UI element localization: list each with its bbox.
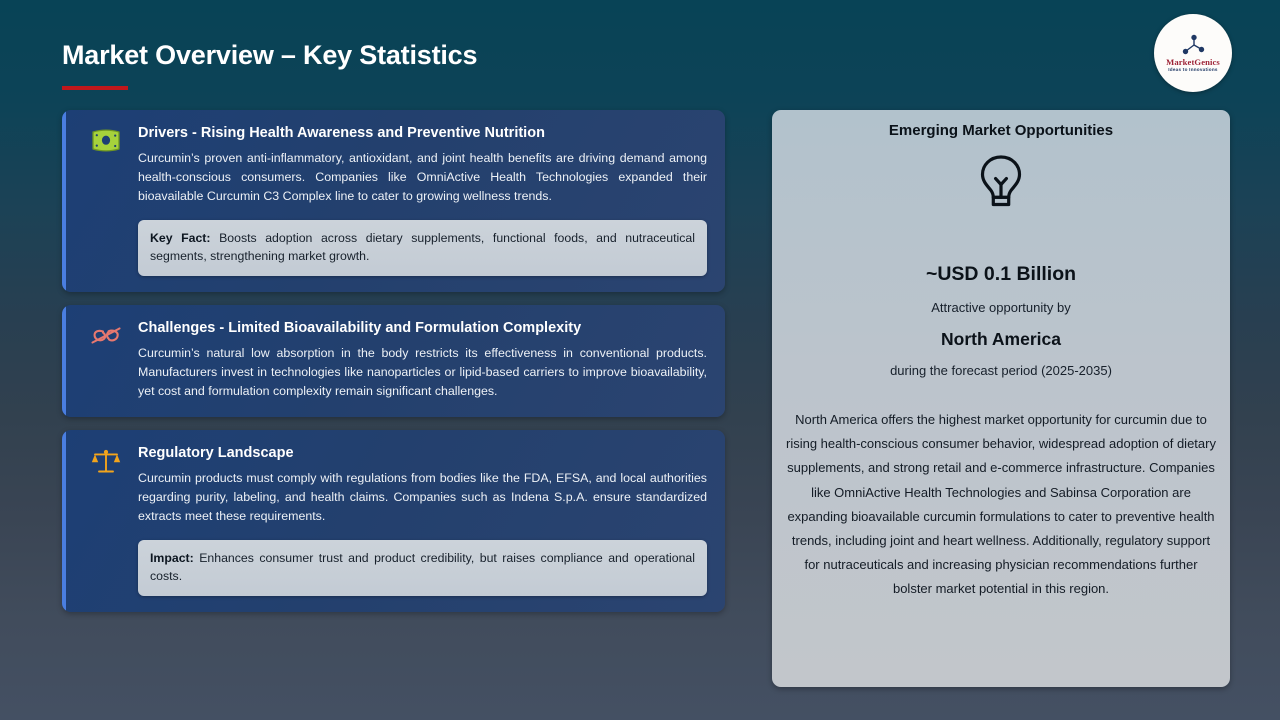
card-drivers[interactable]: Drivers - Rising Health Awareness and Pr… bbox=[62, 110, 725, 292]
page-title: Market Overview – Key Statistics bbox=[62, 40, 477, 71]
banknote-icon bbox=[91, 128, 121, 154]
brand-logo: MarketGenics Ideas to Innovations bbox=[1154, 14, 1232, 92]
broken-link-icon bbox=[90, 323, 122, 349]
card-heading: Drivers - Rising Health Awareness and Pr… bbox=[138, 124, 707, 142]
callout-label: Key Fact: bbox=[150, 231, 211, 245]
insight-card-list: Drivers - Rising Health Awareness and Pr… bbox=[62, 110, 725, 625]
panel-subtitle: Attractive opportunity by bbox=[772, 300, 1230, 315]
callout-text: Boosts adoption across dietary supplemen… bbox=[150, 231, 695, 263]
panel-region: North America bbox=[772, 329, 1230, 350]
callout-text: Enhances consumer trust and product cred… bbox=[150, 551, 695, 583]
card-heading: Challenges - Limited Bioavailability and… bbox=[138, 319, 707, 337]
network-nodes-icon bbox=[1180, 33, 1206, 57]
card-text: Curcumin’s proven anti-inflammatory, ant… bbox=[138, 149, 707, 206]
card-body: Challenges - Limited Bioavailability and… bbox=[128, 319, 707, 401]
card-body: Drivers - Rising Health Awareness and Pr… bbox=[128, 124, 707, 276]
scales-icon bbox=[91, 448, 121, 476]
slide-root: Market Overview – Key Statistics MarketG… bbox=[0, 0, 1280, 720]
panel-market-value: ~USD 0.1 Billion bbox=[772, 263, 1230, 286]
callout-label: Impact: bbox=[150, 551, 194, 565]
card-text: Curcumin products must comply with regul… bbox=[138, 469, 707, 526]
card-icon-wrap bbox=[84, 444, 128, 596]
card-callout: Key Fact: Boosts adoption across dietary… bbox=[138, 220, 707, 276]
panel-icon-wrap bbox=[772, 153, 1230, 215]
card-callout: Impact: Enhances consumer trust and prod… bbox=[138, 540, 707, 596]
title-underline-rule bbox=[62, 86, 128, 90]
card-body: Regulatory Landscape Curcumin products m… bbox=[128, 444, 707, 596]
panel-title: Emerging Market Opportunities bbox=[772, 122, 1230, 139]
card-icon-wrap bbox=[84, 319, 128, 401]
logo-name: MarketGenics bbox=[1166, 58, 1220, 67]
panel-description: North America offers the highest market … bbox=[786, 408, 1216, 601]
card-text: Curcumin’s natural low absorption in the… bbox=[138, 344, 707, 401]
card-challenges[interactable]: Challenges - Limited Bioavailability and… bbox=[62, 305, 725, 417]
card-regulatory-landscape[interactable]: Regulatory Landscape Curcumin products m… bbox=[62, 430, 725, 612]
panel-forecast-period: during the forecast period (2025-2035) bbox=[772, 363, 1230, 378]
emerging-opportunities-panel: Emerging Market Opportunities ~USD 0.1 B… bbox=[772, 110, 1230, 687]
logo-tagline: Ideas to Innovations bbox=[1168, 68, 1217, 73]
card-heading: Regulatory Landscape bbox=[138, 444, 707, 462]
lightbulb-icon bbox=[973, 153, 1029, 215]
card-icon-wrap bbox=[84, 124, 128, 276]
